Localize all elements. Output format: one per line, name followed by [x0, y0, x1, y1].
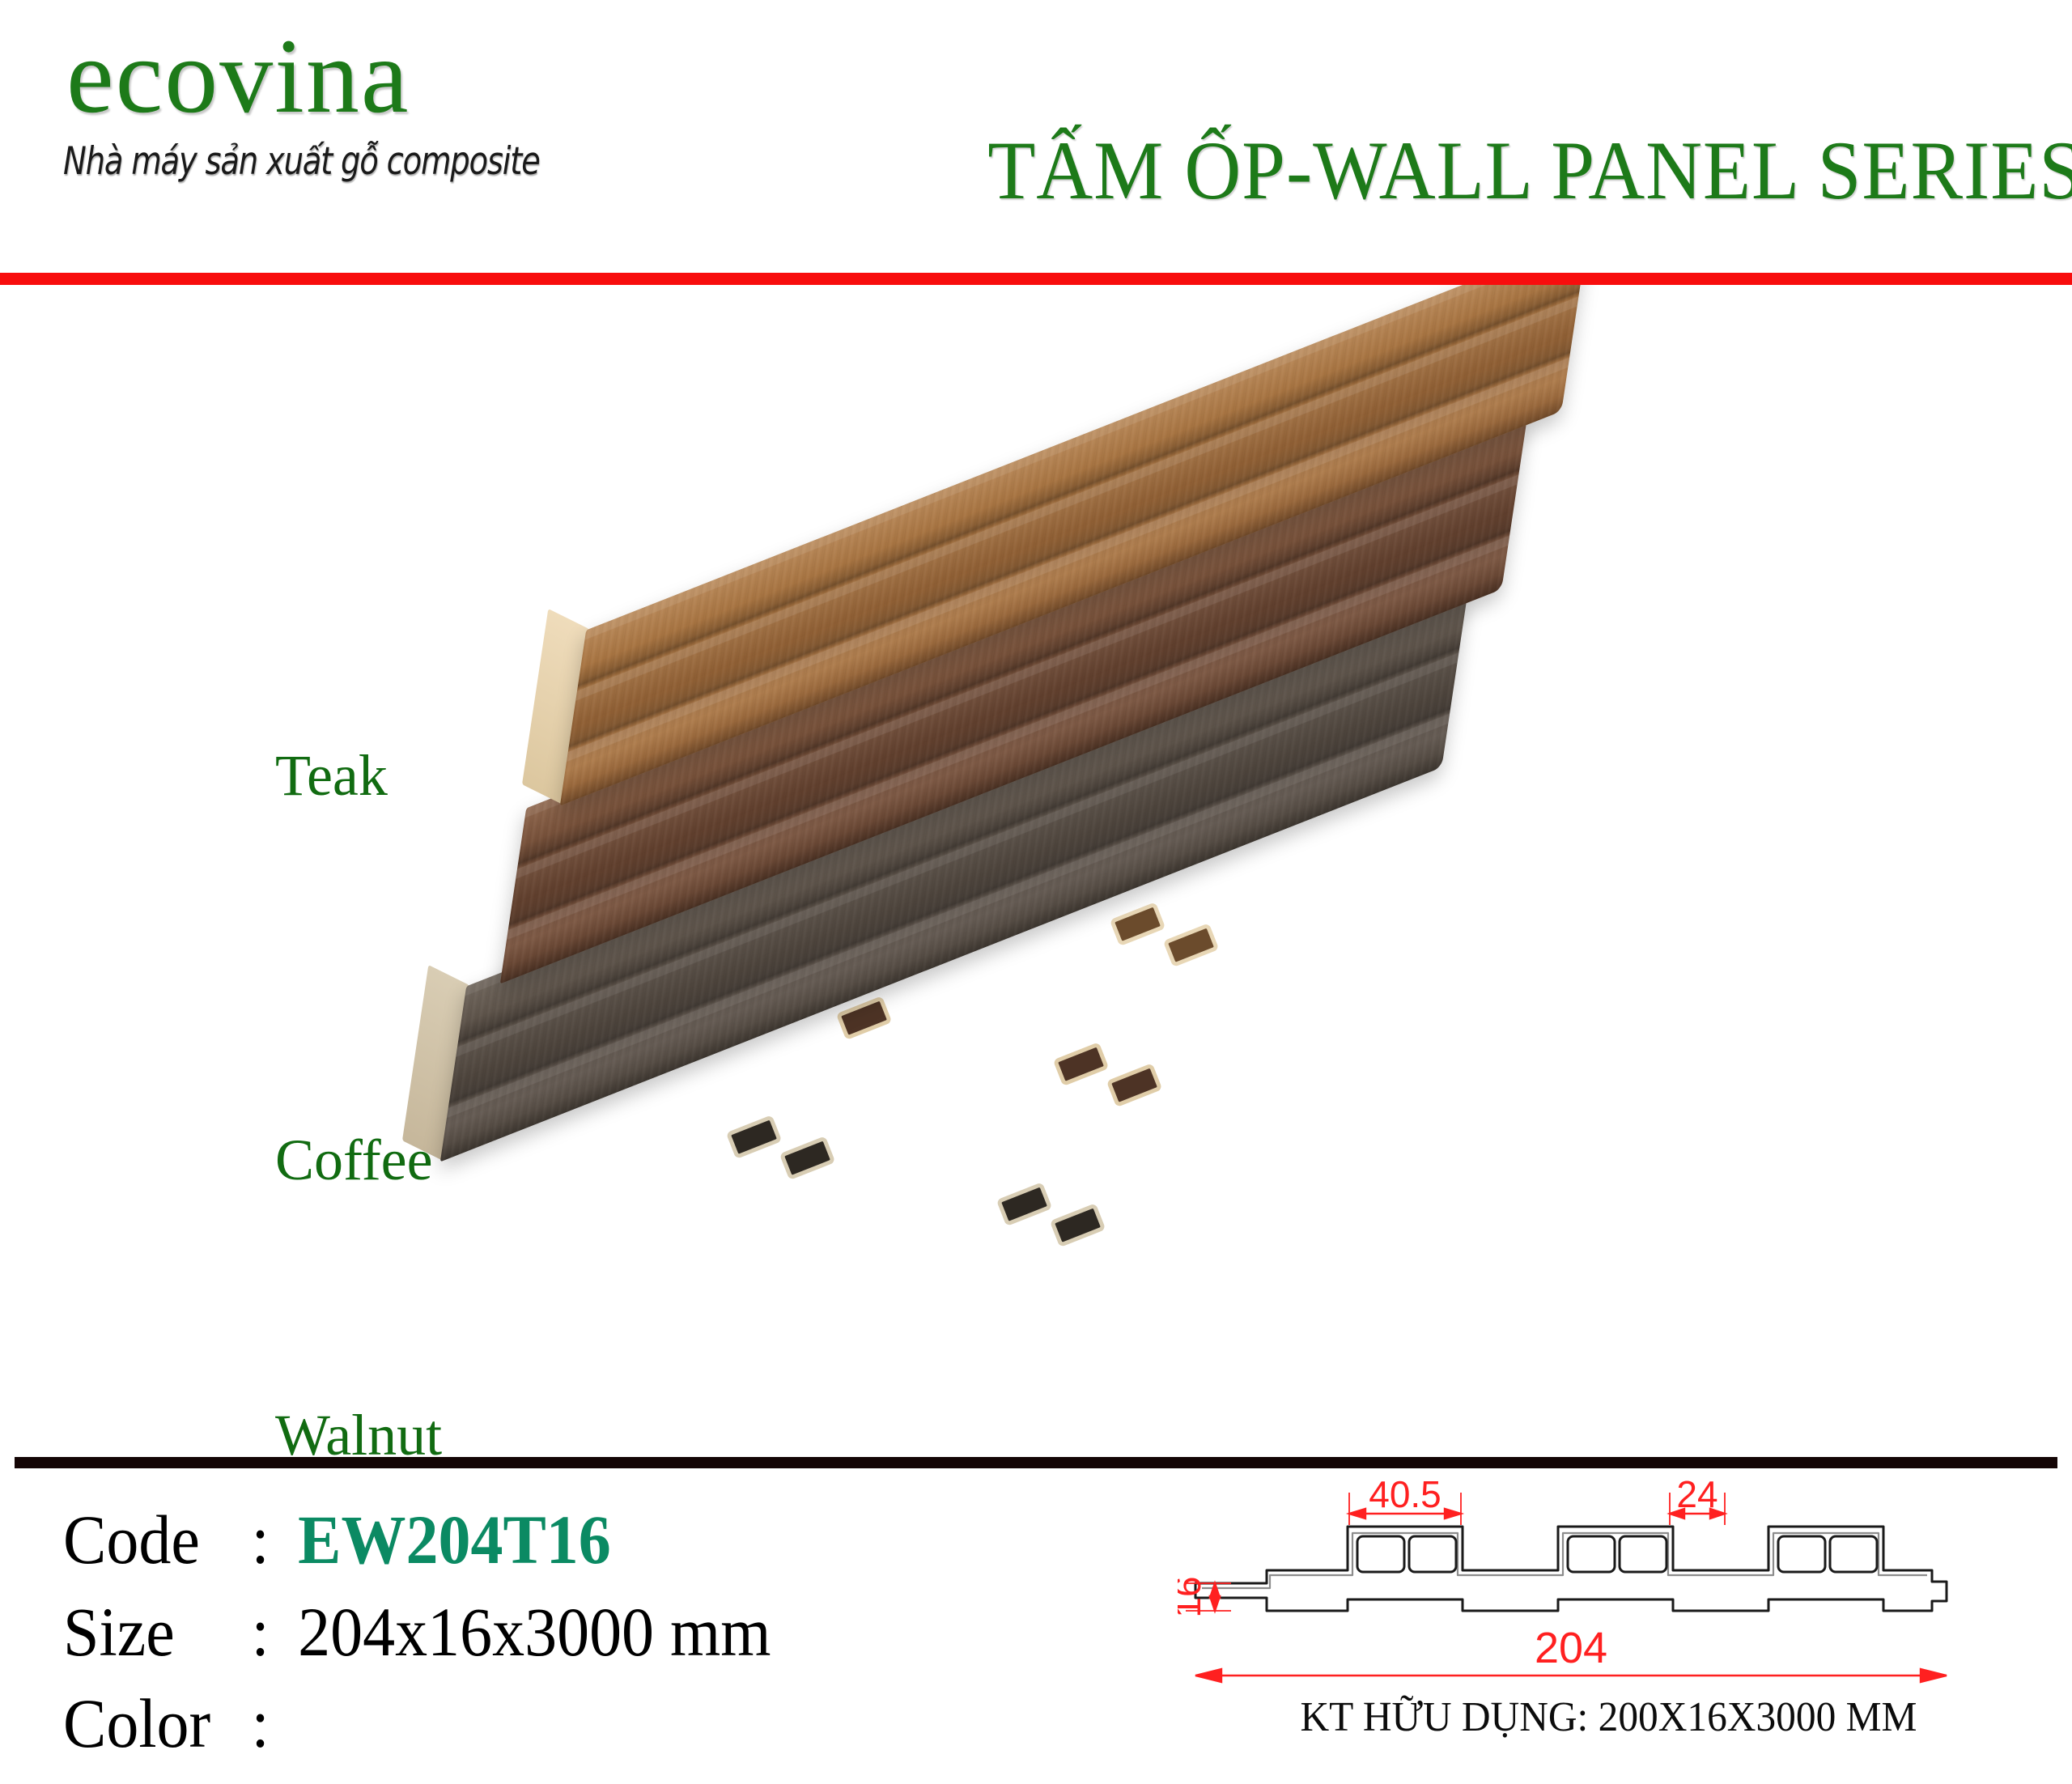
- dimension-label-24: 24: [1676, 1480, 1717, 1515]
- footer-divider-black: [15, 1457, 2057, 1468]
- spec-row-size: Size : 204x16x3000 mm: [63, 1586, 966, 1679]
- profile-chambers: [1357, 1536, 1877, 1572]
- technical-drawing-caption: KT HỮU DỤNG: 200X16X3000 MM: [1199, 1693, 2019, 1741]
- spec-value-size: 204x16x3000 mm: [298, 1586, 771, 1679]
- color-label-teak: Teak: [275, 742, 388, 809]
- brand-logo: ecovina Nhà máy sản xuất gỗ composite: [49, 23, 826, 184]
- page-title: TẤM ỐP-WALL PANEL SERIES: [987, 123, 2007, 219]
- technical-cross-section: 40.5 24 16 204: [1178, 1480, 2040, 1714]
- spec-key-size: Size: [63, 1586, 252, 1679]
- spec-colon-size: :: [252, 1586, 299, 1679]
- spec-key-color: Color: [63, 1678, 252, 1770]
- dimension-label-16: 16: [1178, 1576, 1208, 1617]
- spec-list: Code : EW204T16 Size : 204x16x3000 mm Co…: [63, 1494, 1034, 1770]
- dimension-label-40-5: 40.5: [1369, 1480, 1441, 1515]
- dimension-label-204: 204: [1535, 1624, 1607, 1672]
- color-label-walnut: Walnut: [275, 1402, 442, 1457]
- header-divider-red: [0, 273, 2072, 285]
- page-header: ecovina Nhà máy sản xuất gỗ composite TẤ…: [0, 0, 2072, 279]
- spec-row-code: Code : EW204T16: [63, 1494, 966, 1586]
- logo-wordmark: ecovina: [49, 23, 826, 130]
- logo-tagline: Nhà máy sản xuất gỗ composite: [49, 139, 686, 184]
- product-photo: Teak Coffee Walnut: [0, 285, 2072, 1457]
- spec-key-code: Code: [63, 1494, 252, 1586]
- spec-colon-color: :: [252, 1678, 299, 1770]
- spec-colon-code: :: [252, 1494, 299, 1586]
- product-spec-sheet: ecovina Nhà máy sản xuất gỗ composite TẤ…: [0, 0, 2072, 1784]
- dimension-labels: 40.5 24 16 204: [1178, 1480, 1718, 1672]
- spec-row-color: Color :: [63, 1678, 966, 1770]
- profile-outline: [1195, 1527, 1947, 1611]
- spec-value-code: EW204T16: [298, 1494, 611, 1586]
